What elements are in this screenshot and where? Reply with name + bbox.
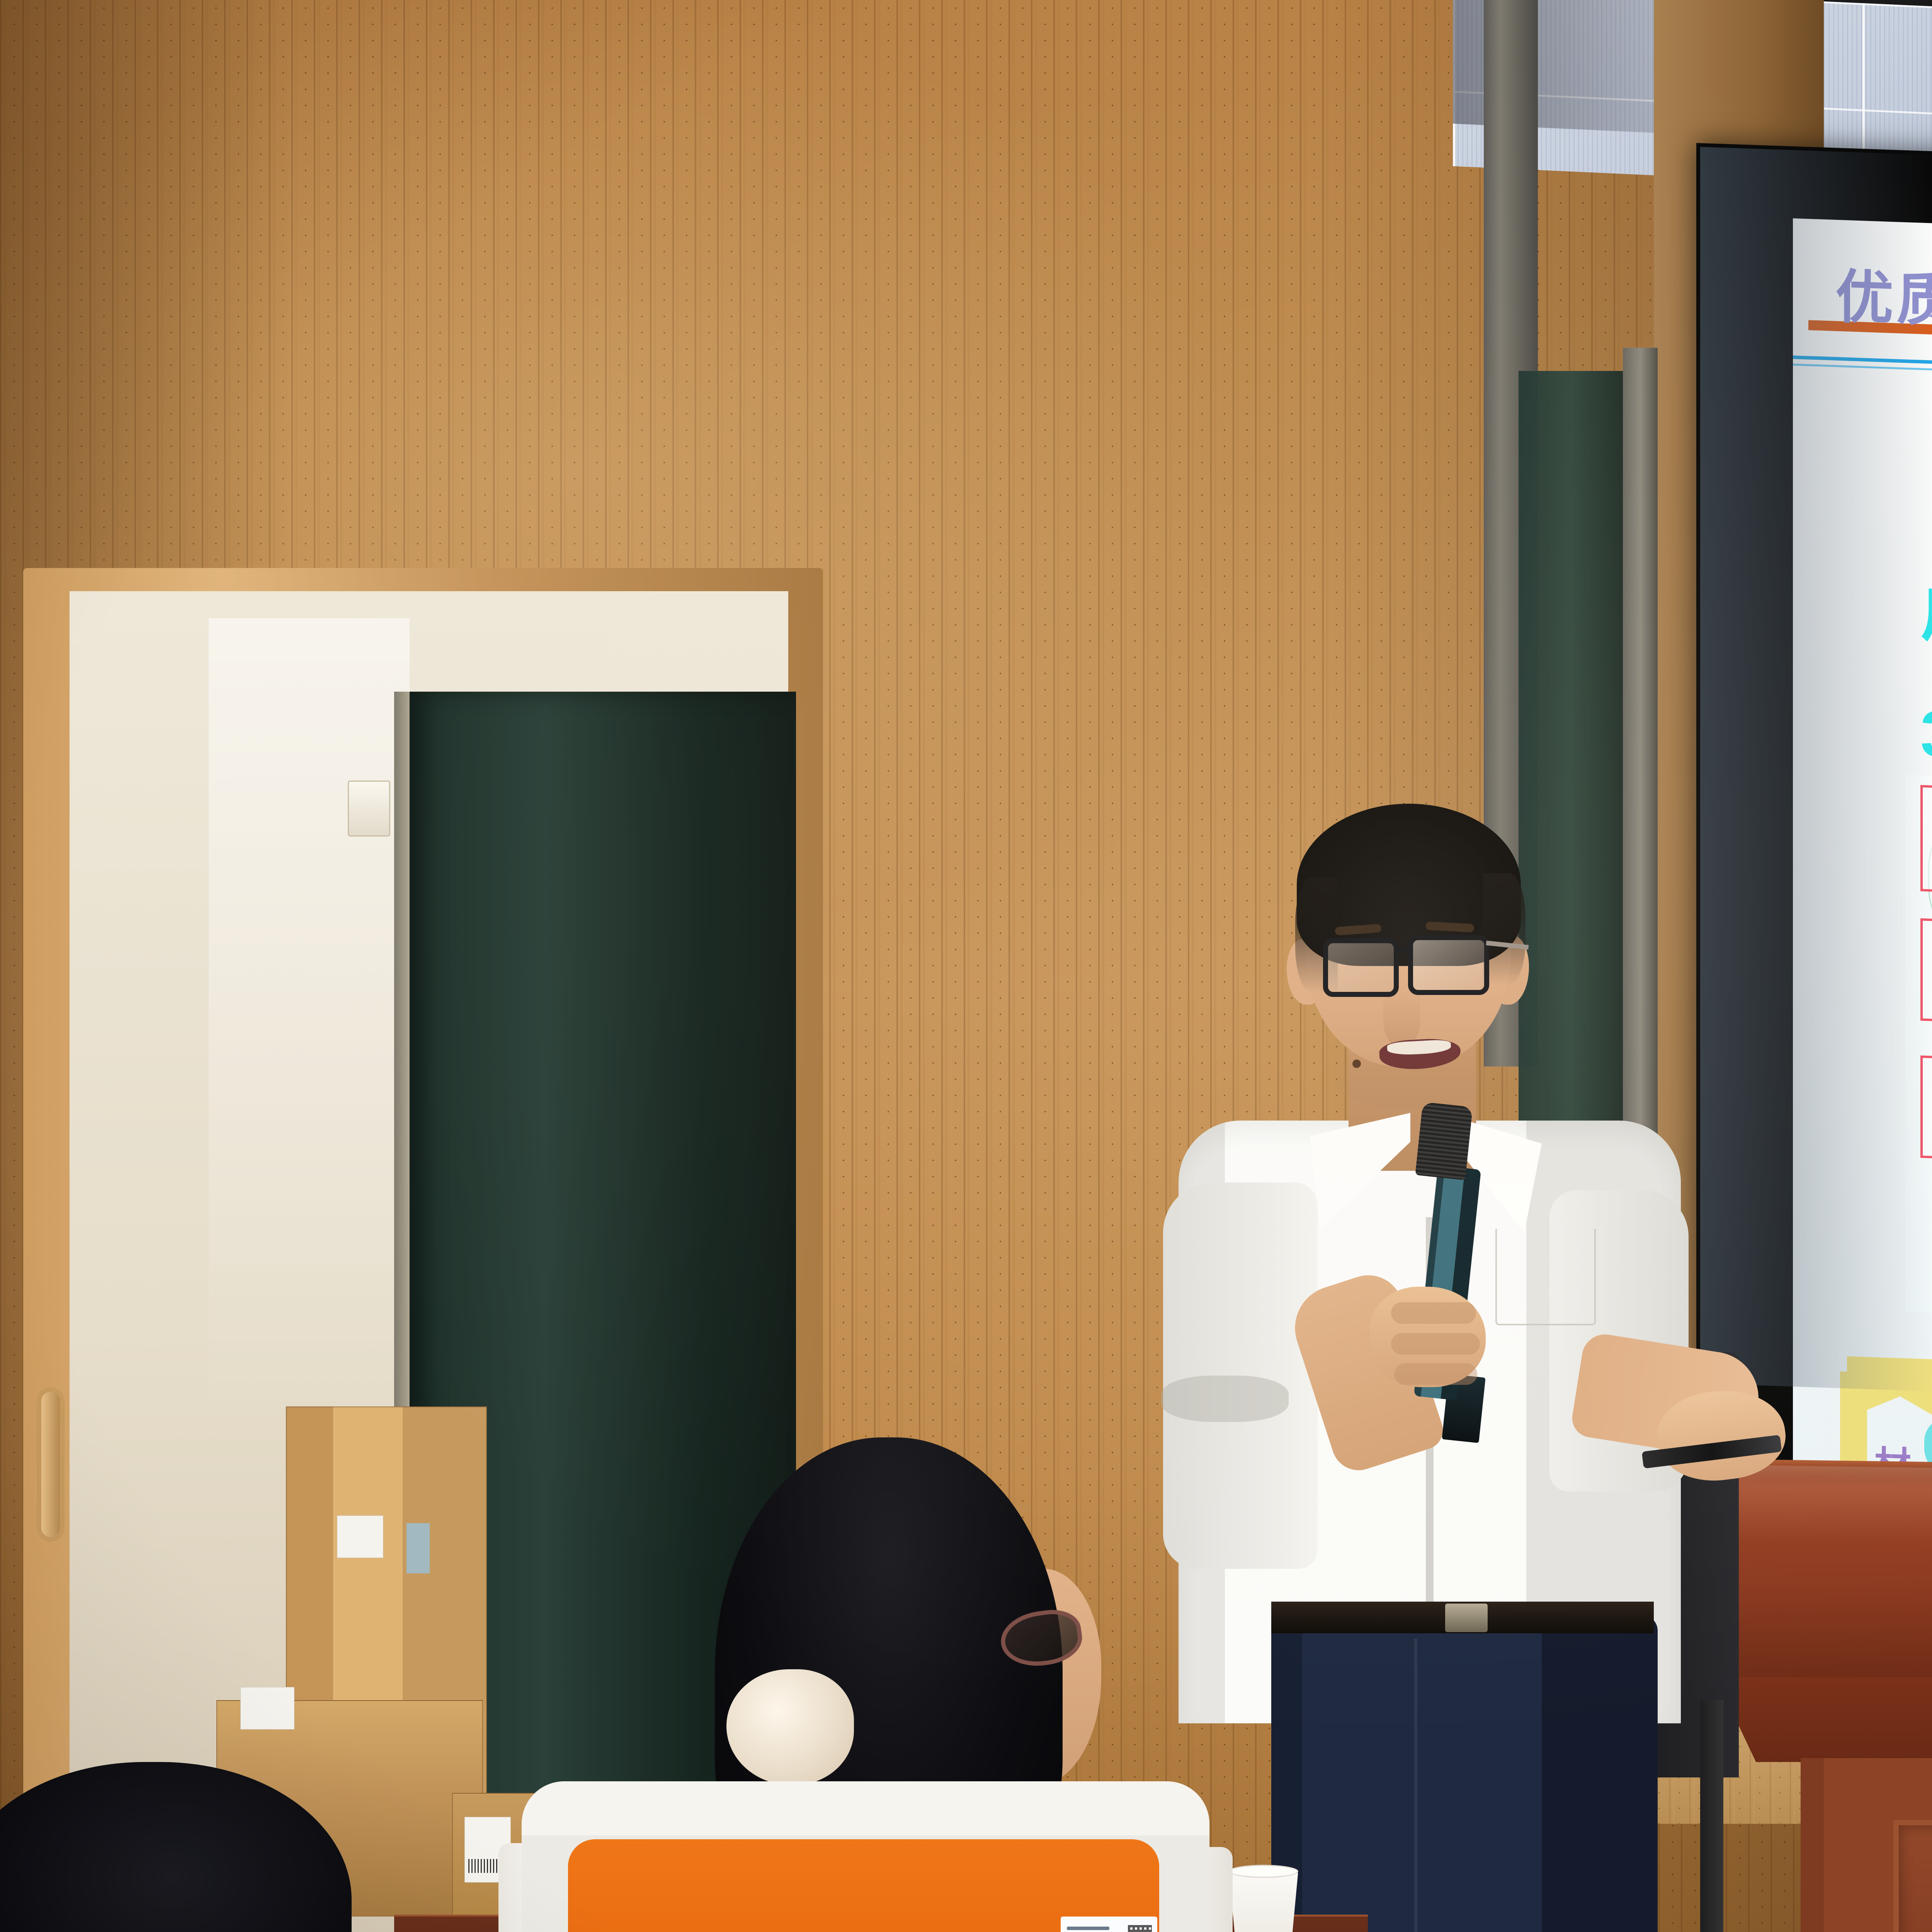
presenter-nose — [1383, 989, 1420, 1047]
audience-woman-hair-scrunchie — [726, 1669, 854, 1785]
paper-cup-rim — [1229, 1865, 1298, 1878]
slide-header-title-left: 优质的教育资源 — [1835, 250, 1932, 349]
sticker-text-line — [1067, 1927, 1109, 1930]
doorway-light-patch — [209, 618, 410, 1430]
slide-line3-highlight: 3个校区。 — [1920, 697, 1932, 780]
presenter-glasses-left-lens — [1323, 938, 1399, 997]
box-tape — [406, 1523, 430, 1573]
presenter-belt-buckle — [1445, 1604, 1488, 1632]
paper-cup[interactable] — [1229, 1870, 1298, 1932]
slide-body-line-2: 广东省茂名市，占地面积136. — [1920, 559, 1932, 683]
conference-room-scene: 优质的教育资源 助你成就 学校地处中国南方最大的石 广东省茂名市，占地面积136… — [0, 0, 1932, 1932]
box-shipping-label — [337, 1515, 383, 1558]
presenter-hair-side-right — [1483, 873, 1526, 985]
handheld-microphone-grille — [1415, 1102, 1473, 1180]
presenter-glasses-bridge — [1398, 947, 1411, 952]
box-shipping-label — [240, 1687, 294, 1730]
finger-crease — [1391, 1302, 1476, 1324]
presenter-shirt-pocket — [1495, 1229, 1596, 1325]
slide-divider-line — [1793, 355, 1932, 405]
presenter-trouser-seam — [1414, 1638, 1417, 1932]
lectern-front-panel — [1893, 1820, 1932, 1932]
door-handle[interactable] — [37, 1387, 65, 1542]
slide-divider-line-secondary — [1793, 364, 1932, 412]
presenter-glasses-right-lens — [1408, 935, 1489, 995]
slide-line2-highlight: 广东省茂名市， — [1920, 575, 1932, 664]
map-callout-hainan: 中石化海南800万吨炼油 — [1920, 1056, 1932, 1172]
map-callout-beihai: 中石化北海500万吨炼油 — [1920, 918, 1932, 1034]
presenter-left-sleeve-hem — [1161, 1376, 1289, 1422]
light-switch[interactable] — [348, 781, 390, 837]
presenter-trousers — [1271, 1615, 1658, 1932]
presentation-slide[interactable]: 优质的教育资源 助你成就 学校地处中国南方最大的石 广东省茂名市，占地面积136… — [1793, 218, 1932, 1543]
office-chair-column — [1700, 1700, 1723, 1932]
qr-code-icon — [1128, 1925, 1152, 1932]
presenter-facial-mole — [1352, 1060, 1361, 1068]
finger-crease — [1394, 1363, 1477, 1385]
chair-inventory-sticker — [1061, 1917, 1157, 1932]
finger-crease — [1391, 1333, 1480, 1355]
barcode — [468, 1859, 500, 1873]
